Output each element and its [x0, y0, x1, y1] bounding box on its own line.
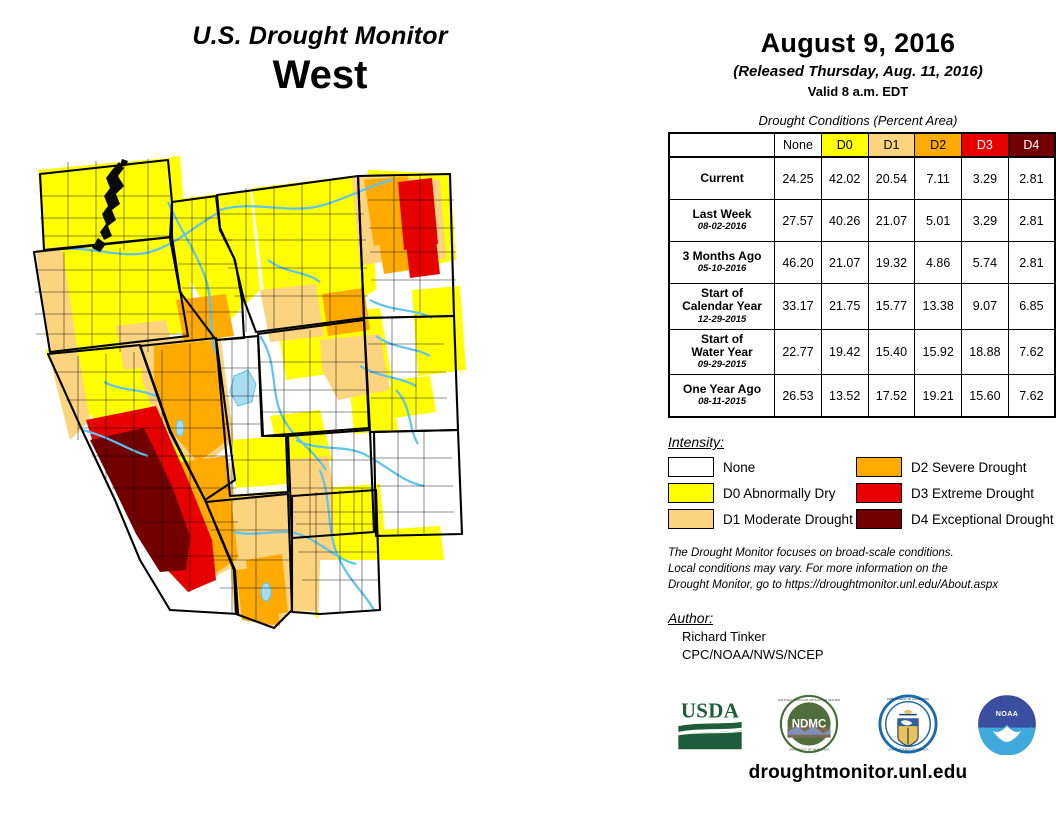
svg-text:NOAA: NOAA [995, 709, 1018, 718]
table-cell: 17.52 [868, 375, 915, 418]
table-cell: 13.52 [821, 375, 868, 418]
legend-row: D0 Abnormally DryD3 Extreme Drought [668, 480, 1044, 506]
legend-row: NoneD2 Severe Drought [668, 454, 1044, 480]
row-label-text: 3 Months Ago [683, 249, 762, 263]
table-cell: 19.42 [821, 329, 868, 375]
table-row-label: One Year Ago08-11-2015 [669, 375, 775, 418]
table-cell: 33.17 [775, 284, 822, 330]
row-label-date: 12-29-2015 [674, 315, 770, 326]
table-cell: 7.62 [1008, 329, 1055, 375]
svg-text:NDMC: NDMC [791, 719, 826, 731]
table-cell: 26.53 [775, 375, 822, 418]
disclaimer-line-2: Local conditions may vary. For more info… [668, 562, 1056, 578]
drought-map[interactable] [20, 140, 640, 800]
table-row-label: Current [669, 157, 775, 200]
table-cell: 46.20 [775, 242, 822, 284]
table-col-header-d4: D4 [1008, 133, 1055, 157]
table-cell: 18.88 [962, 329, 1009, 375]
valid-time: Valid 8 a.m. EDT [660, 84, 1056, 99]
info-panel: August 9, 2016 (Released Thursday, Aug. … [660, 0, 1056, 816]
table-cell: 2.81 [1008, 157, 1055, 200]
table-corner-cell [669, 133, 775, 157]
row-label-text: Last Week [692, 207, 751, 221]
table-row: One Year Ago08-11-201526.5313.5217.5219.… [669, 375, 1055, 418]
disclaimer-line-1: The Drought Monitor focuses on broad-sca… [668, 546, 1056, 562]
table-cell: 2.81 [1008, 200, 1055, 242]
table-row: Start ofCalendar Year12-29-201533.1721.7… [669, 284, 1055, 330]
table-header-row: NoneD0D1D2D3D4 [669, 133, 1055, 157]
table-cell: 15.77 [868, 284, 915, 330]
table-row-label: Start ofCalendar Year12-29-2015 [669, 284, 775, 330]
table-cell: 5.74 [962, 242, 1009, 284]
disclaimer: The Drought Monitor focuses on broad-sca… [668, 546, 1056, 594]
table-cell: 6.85 [1008, 284, 1055, 330]
row-label-text: Current [700, 171, 743, 185]
table-header: NoneD0D1D2D3D4 [669, 133, 1055, 157]
table-col-header-d3: D3 [962, 133, 1009, 157]
svg-text:USDA: USDA [680, 699, 738, 723]
table-cell: 21.75 [821, 284, 868, 330]
table-cell: 7.11 [915, 157, 962, 200]
author-name: Richard Tinker [682, 628, 1056, 647]
legend-item-none: None [668, 457, 856, 477]
table-col-header-d2: D2 [915, 133, 962, 157]
svg-text:UNIVERSITY OF NEBRASKA: UNIVERSITY OF NEBRASKA [788, 748, 828, 752]
table-cell: 4.86 [915, 242, 962, 284]
table-cell: 19.21 [915, 375, 962, 418]
map-panel: U.S. Drought Monitor West [0, 0, 660, 816]
release-date: (Released Thursday, Aug. 11, 2016) [660, 63, 1056, 80]
legend-swatch-d0 [668, 483, 714, 503]
legend-label-none: None [723, 460, 755, 475]
table-row: 3 Months Ago05-10-201646.2021.0719.324.8… [669, 242, 1055, 284]
row-label-text: Start ofCalendar Year [682, 286, 762, 313]
table-col-header-d0: D0 [821, 133, 868, 157]
row-label-date: 08-11-2015 [674, 397, 770, 408]
table-row: Start ofWater Year09-29-201522.7719.4215… [669, 329, 1055, 375]
table-cell: 21.07 [821, 242, 868, 284]
report-date: August 9, 2016 [660, 28, 1056, 59]
table-row-label: Start ofWater Year09-29-2015 [669, 329, 775, 375]
legend-swatch-d1 [668, 509, 714, 529]
table-cell: 27.57 [775, 200, 822, 242]
disclaimer-line-3: Drought Monitor, go to https://droughtmo… [668, 578, 1056, 594]
author-affiliation: CPC/NOAA/NWS/NCEP [682, 646, 1056, 665]
table-row: Current24.2542.0220.547.113.292.81 [669, 157, 1055, 200]
table-cell: 15.92 [915, 329, 962, 375]
table-cell: 20.54 [868, 157, 915, 200]
table-col-header-d1: D1 [868, 133, 915, 157]
legend-item-d2: D2 Severe Drought [856, 457, 1044, 477]
table-cell: 3.29 [962, 157, 1009, 200]
row-label-date: 05-10-2016 [674, 264, 770, 275]
legend-swatch-d3 [856, 483, 902, 503]
table-cell: 40.26 [821, 200, 868, 242]
legend-label-d3: D3 Extreme Drought [911, 486, 1034, 501]
row-label-text: One Year Ago [683, 382, 761, 396]
legend-row: D1 Moderate DroughtD4 Exceptional Drough… [668, 506, 1044, 532]
table-cell: 3.29 [962, 200, 1009, 242]
legend-swatch-d2 [856, 457, 902, 477]
logo-row: USDA NDMC NATIONAL DROUGHT MITIGATION CE… [660, 688, 1056, 760]
table-cell: 21.07 [868, 200, 915, 242]
table-cell: 2.81 [1008, 242, 1055, 284]
noaa-logo: NOAA [971, 693, 1043, 755]
legend-item-d3: D3 Extreme Drought [856, 483, 1044, 503]
legend-label-d2: D2 Severe Drought [911, 460, 1027, 475]
row-label-date: 09-29-2015 [674, 360, 770, 371]
svg-text:NATIONAL DROUGHT MITIGATION CE: NATIONAL DROUGHT MITIGATION CENTER [777, 698, 840, 702]
table-cell: 24.25 [775, 157, 822, 200]
legend-swatch-none [668, 457, 714, 477]
table-cell: 22.77 [775, 329, 822, 375]
page-title: U.S. Drought Monitor [0, 22, 640, 51]
legend: NoneD2 Severe DroughtD0 Abnormally DryD3… [668, 454, 1044, 532]
table-row: Last Week08-02-201627.5740.2621.075.013.… [669, 200, 1055, 242]
table-cell: 15.40 [868, 329, 915, 375]
table-caption: Drought Conditions (Percent Area) [660, 113, 1056, 128]
date-block: August 9, 2016 (Released Thursday, Aug. … [660, 0, 1056, 99]
svg-text:UNITED STATES OF AMERICA: UNITED STATES OF AMERICA [887, 748, 928, 752]
table-cell: 42.02 [821, 157, 868, 200]
table-row-label: 3 Months Ago05-10-2016 [669, 242, 775, 284]
author-title: Author: [668, 610, 1056, 626]
usda-seal-logo: DEPARTMENT OF COMMERCE UNITED STATES OF … [872, 693, 944, 755]
region-title: West [0, 55, 640, 95]
table-cell: 7.62 [1008, 375, 1055, 418]
svg-text:DEPARTMENT OF COMMERCE: DEPARTMENT OF COMMERCE [886, 697, 928, 701]
table-cell: 19.32 [868, 242, 915, 284]
legend-label-d0: D0 Abnormally Dry [723, 486, 836, 501]
table-row-label: Last Week08-02-2016 [669, 200, 775, 242]
table-body: Current24.2542.0220.547.113.292.81Last W… [669, 157, 1055, 417]
table-cell: 13.38 [915, 284, 962, 330]
title-block: U.S. Drought Monitor West [0, 22, 640, 95]
ndmc-logo: NDMC NATIONAL DROUGHT MITIGATION CENTER … [773, 693, 845, 755]
table-cell: 15.60 [962, 375, 1009, 418]
drought-conditions-table: NoneD0D1D2D3D4 Current24.2542.0220.547.1… [668, 132, 1056, 418]
drought-map-svg[interactable] [20, 140, 640, 800]
row-label-text: Start ofWater Year [691, 332, 752, 359]
legend-item-d4: D4 Exceptional Drought [856, 509, 1044, 529]
usda-logo: USDA [674, 693, 746, 755]
table-cell: 9.07 [962, 284, 1009, 330]
table-cell: 5.01 [915, 200, 962, 242]
legend-swatch-d4 [856, 509, 902, 529]
row-label-date: 08-02-2016 [674, 222, 770, 233]
table-col-header-none: None [775, 133, 822, 157]
legend-item-d0: D0 Abnormally Dry [668, 483, 856, 503]
legend-label-d1: D1 Moderate Drought [723, 512, 853, 527]
site-url[interactable]: droughtmonitor.unl.edu [660, 762, 1056, 784]
legend-item-d1: D1 Moderate Drought [668, 509, 856, 529]
legend-label-d4: D4 Exceptional Drought [911, 512, 1054, 527]
legend-title: Intensity: [668, 434, 1056, 450]
